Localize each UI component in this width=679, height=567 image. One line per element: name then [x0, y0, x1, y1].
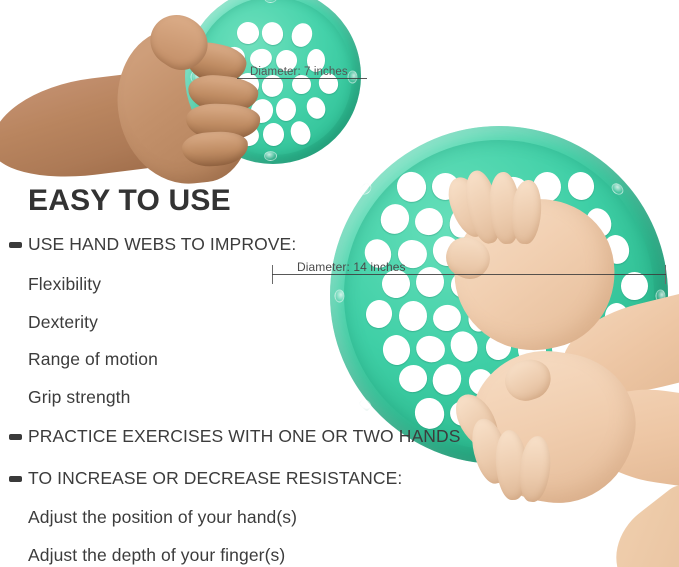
disc-hole: [364, 298, 394, 330]
disc-hole: [287, 118, 313, 147]
disc-hole: [398, 300, 428, 332]
bullet-resistance: TO INCREASE OR DECREASE RESISTANCE:: [0, 468, 402, 489]
disc-hole: [276, 98, 296, 121]
page-title: EASY TO USE: [28, 184, 231, 218]
disc-hole: [566, 170, 598, 203]
sub-item-dexterity: Dexterity: [28, 312, 98, 333]
infographic-canvas: Diameter: 7 inches Diameter: 14 inches E…: [0, 0, 679, 567]
measure-line: [272, 274, 666, 275]
bullet-label: USE HAND WEBS TO IMPROVE:: [28, 234, 296, 255]
disc-hole: [377, 200, 414, 238]
measure-label-large: Diameter: 14 inches: [294, 260, 409, 274]
disc-hole: [429, 360, 466, 399]
measurement-small-disc: Diameter: 7 inches: [237, 68, 367, 88]
sub-item-adjust-position: Adjust the position of your hand(s): [28, 507, 297, 528]
rivet-icon: [264, 151, 277, 161]
dash-bullet-icon: [9, 476, 22, 482]
dash-bullet-icon: [9, 242, 22, 248]
forearm-corner: [596, 473, 679, 567]
measure-label-small: Diameter: 7 inches: [247, 66, 351, 78]
disc-hole: [431, 302, 464, 334]
bullet-label: PRACTICE EXERCISES WITH ONE OR TWO HANDS: [28, 426, 460, 447]
disc-hole: [263, 122, 285, 145]
disc-hole: [289, 21, 315, 50]
disc-hole: [380, 333, 412, 367]
dash-bullet-icon: [9, 434, 22, 440]
bullet-use-hand-webs: USE HAND WEBS TO IMPROVE:: [0, 234, 296, 255]
disc-hole: [411, 204, 447, 240]
disc-hole: [446, 327, 482, 365]
disc-hole: [395, 361, 431, 396]
sub-item-grip-strength: Grip strength: [28, 387, 130, 408]
disc-hole: [236, 20, 262, 45]
rivet-icon: [335, 290, 345, 303]
sub-item-flexibility: Flexibility: [28, 274, 101, 295]
sub-item-adjust-depth: Adjust the depth of your finger(s): [28, 545, 285, 566]
disc-hole: [413, 332, 448, 366]
disc-hole: [259, 19, 286, 47]
bullet-practice-exercises: PRACTICE EXERCISES WITH ONE OR TWO HANDS: [0, 426, 460, 447]
measurement-large-disc: Diameter: 14 inches: [272, 264, 666, 284]
disc-hole: [304, 95, 329, 122]
measure-line: [237, 78, 367, 79]
bullet-label: TO INCREASE OR DECREASE RESISTANCE:: [28, 468, 402, 489]
sub-item-range-of-motion: Range of motion: [28, 349, 158, 370]
